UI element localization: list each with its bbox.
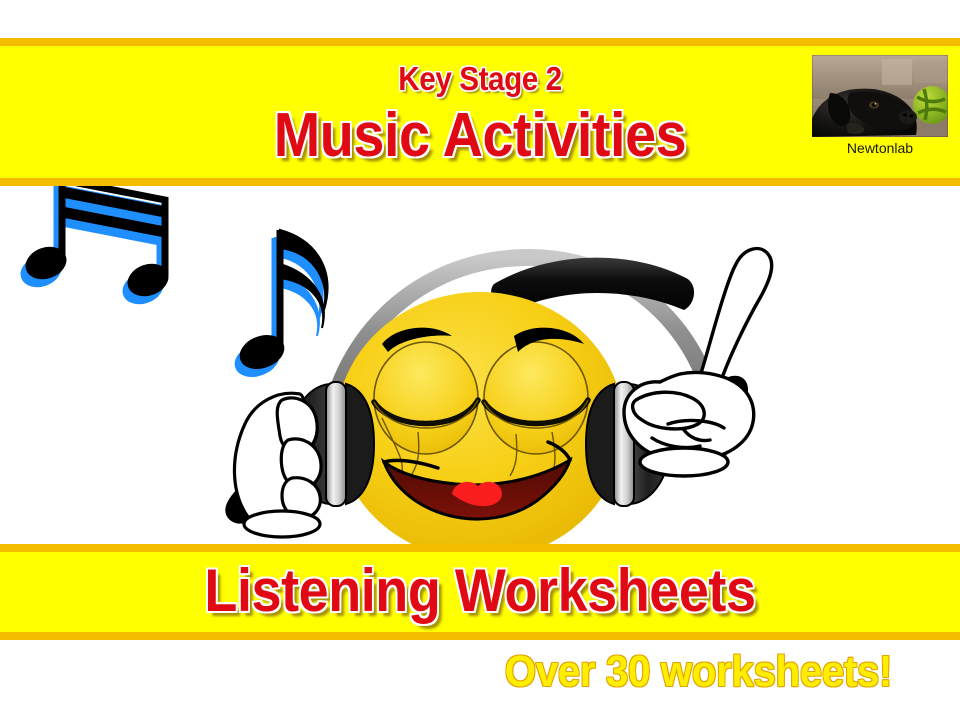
black-labrador-photo (812, 55, 948, 137)
logo-label: Newtonlab (812, 141, 948, 156)
page-subtitle: Listening Worksheets (48, 561, 912, 621)
smiley-with-headphones-illustration (0, 186, 960, 544)
newtonlab-logo: Newtonlab (812, 55, 948, 156)
page-title: Music Activities (48, 105, 912, 167)
cover-page: Key Stage 2 Music Activities (0, 0, 960, 720)
music-notes-group (17, 186, 327, 382)
key-stage-kicker: Key Stage 2 (48, 62, 912, 95)
worksheet-count-tagline: Over 30 worksheets! (505, 650, 892, 694)
left-glove-hand (234, 393, 321, 537)
